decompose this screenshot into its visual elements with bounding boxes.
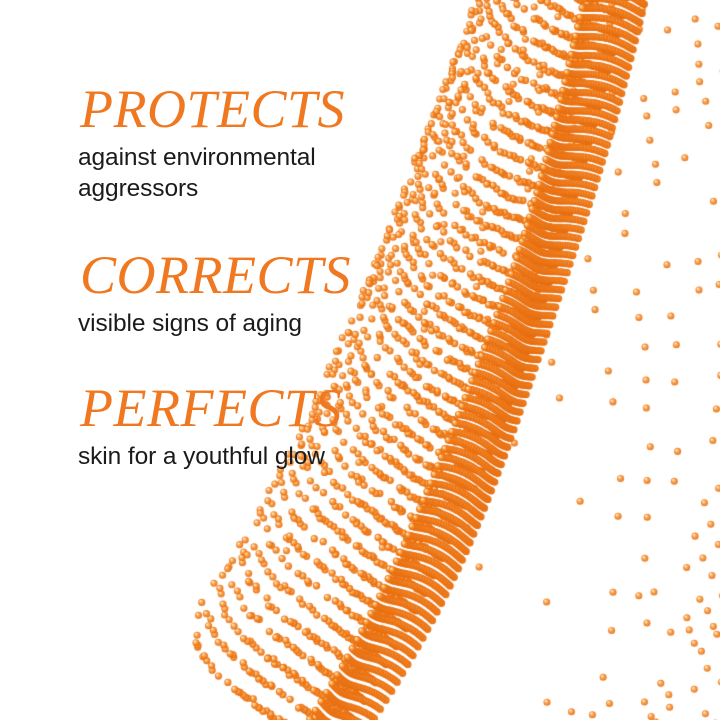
promo-canvas: PROTECTS against environmental aggressor… (0, 0, 720, 720)
benefit-body-protects: against environmental aggressors (78, 142, 438, 205)
benefit-body-perfects: skin for a youthful glow (78, 441, 438, 472)
benefit-copy-block: PROTECTS against environmental aggressor… (0, 0, 430, 720)
benefit-headline-perfects: PERFECTS (80, 381, 430, 435)
benefit-item-corrects: CORRECTS visible signs of aging (0, 248, 430, 339)
benefit-item-protects: PROTECTS against environmental aggressor… (0, 82, 430, 205)
benefit-body-corrects: visible signs of aging (78, 308, 438, 339)
benefit-item-perfects: PERFECTS skin for a youthful glow (0, 381, 430, 472)
benefit-headline-corrects: CORRECTS (80, 248, 430, 302)
benefit-headline-protects: PROTECTS (80, 82, 430, 136)
